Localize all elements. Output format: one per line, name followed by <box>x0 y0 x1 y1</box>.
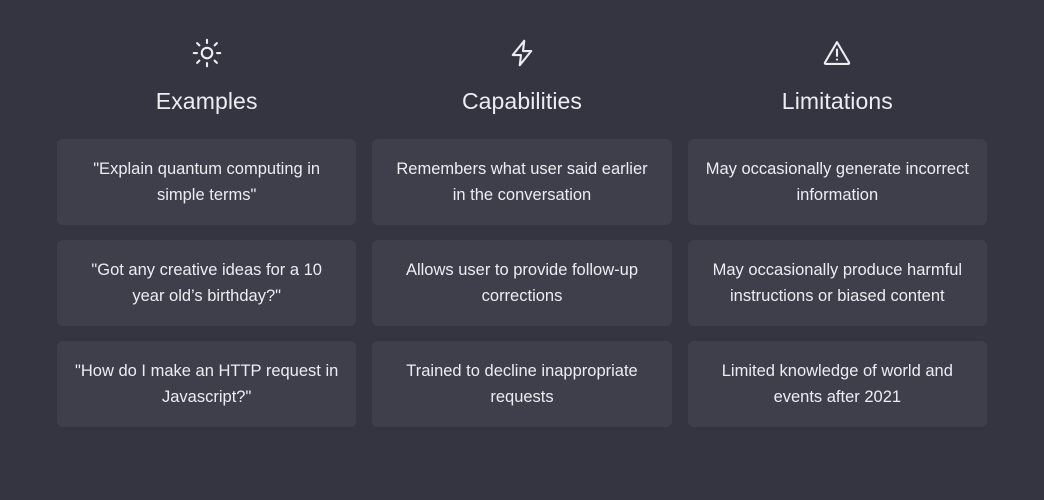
limitation-card-list: May occasionally generate incorrect info… <box>688 139 987 427</box>
column-limitations: Limitations May occasionally generate in… <box>688 36 987 500</box>
example-card[interactable]: "How do I make an HTTP request in Javasc… <box>57 341 356 427</box>
limitation-card: May occasionally generate incorrect info… <box>688 139 987 225</box>
column-title: Capabilities <box>462 90 582 113</box>
feature-columns: Examples "Explain quantum computing in s… <box>57 0 987 500</box>
column-title: Limitations <box>782 90 893 113</box>
sun-icon <box>192 36 222 70</box>
column-capabilities: Capabilities Remembers what user said ea… <box>372 36 671 500</box>
welcome-screen: Examples "Explain quantum computing in s… <box>0 0 1044 500</box>
capability-card: Allows user to provide follow-up correct… <box>372 240 671 326</box>
lightning-bolt-icon <box>507 36 537 70</box>
capability-card-list: Remembers what user said earlier in the … <box>372 139 671 427</box>
capability-card: Remembers what user said earlier in the … <box>372 139 671 225</box>
limitation-card: May occasionally produce harmful instruc… <box>688 240 987 326</box>
column-title: Examples <box>156 90 258 113</box>
limitation-card: Limited knowledge of world and events af… <box>688 341 987 427</box>
example-card[interactable]: "Explain quantum computing in simple ter… <box>57 139 356 225</box>
column-examples: Examples "Explain quantum computing in s… <box>57 36 356 500</box>
example-card[interactable]: "Got any creative ideas for a 10 year ol… <box>57 240 356 326</box>
warning-triangle-icon <box>822 36 852 70</box>
example-card-list: "Explain quantum computing in simple ter… <box>57 139 356 427</box>
capability-card: Trained to decline inappropriate request… <box>372 341 671 427</box>
